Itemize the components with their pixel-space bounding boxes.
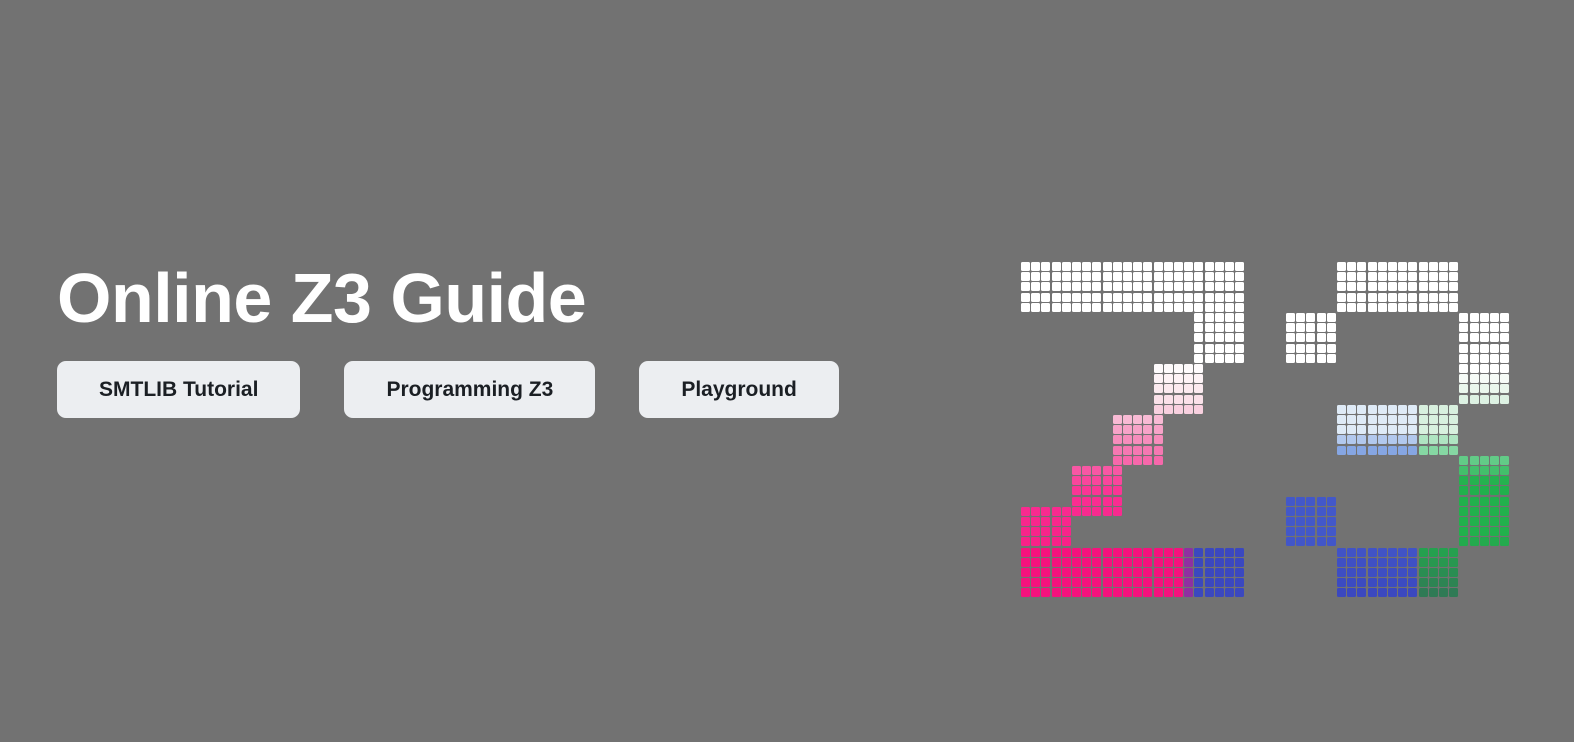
logo-cell xyxy=(1480,456,1489,465)
logo-cell xyxy=(1378,568,1387,577)
logo-cell xyxy=(1459,374,1468,383)
logo-cell xyxy=(1052,303,1061,312)
logo-cell xyxy=(1215,282,1224,291)
logo-cell xyxy=(1388,303,1397,312)
logo-cell xyxy=(1500,364,1509,373)
logo-cell xyxy=(1398,446,1407,455)
logo-cell xyxy=(1470,323,1479,332)
logo-cell xyxy=(1225,272,1234,281)
logo-cell xyxy=(1103,466,1112,475)
logo-cell xyxy=(1113,282,1122,291)
logo-cell xyxy=(1337,415,1346,424)
logo-cell xyxy=(1429,425,1438,434)
logo-cell xyxy=(1419,282,1428,291)
logo-cell xyxy=(1429,405,1438,414)
logo-cell xyxy=(1184,558,1193,567)
logo-cell xyxy=(1388,578,1397,587)
logo-cell xyxy=(1398,435,1407,444)
logo-cell xyxy=(1041,262,1050,271)
logo-cell xyxy=(1439,303,1448,312)
logo-cell xyxy=(1429,435,1438,444)
logo-cell xyxy=(1357,405,1366,414)
logo-cell xyxy=(1235,272,1244,281)
logo-cell xyxy=(1235,323,1244,332)
logo-cell xyxy=(1368,293,1377,302)
logo-cell xyxy=(1500,476,1509,485)
logo-cell xyxy=(1164,282,1173,291)
logo-cell xyxy=(1449,303,1458,312)
logo-cell xyxy=(1225,333,1234,342)
logo-cell xyxy=(1480,333,1489,342)
logo-cell xyxy=(1317,313,1326,322)
logo-cell xyxy=(1184,374,1193,383)
logo-cell xyxy=(1164,364,1173,373)
logo-cell xyxy=(1470,384,1479,393)
logo-cell xyxy=(1439,588,1448,597)
logo-cell xyxy=(1398,548,1407,557)
logo-cell xyxy=(1174,395,1183,404)
logo-cell xyxy=(1164,578,1173,587)
logo-cell xyxy=(1062,517,1071,526)
logo-cell xyxy=(1072,497,1081,506)
logo-cell xyxy=(1470,456,1479,465)
logo-cell xyxy=(1133,262,1142,271)
logo-cell xyxy=(1317,344,1326,353)
logo-cell xyxy=(1154,446,1163,455)
logo-cell xyxy=(1459,537,1468,546)
logo-cell xyxy=(1419,578,1428,587)
logo-cell xyxy=(1174,384,1183,393)
logo-cell xyxy=(1490,395,1499,404)
logo-cell xyxy=(1490,333,1499,342)
smtlib-tutorial-button[interactable]: SMTLIB Tutorial xyxy=(57,361,300,418)
logo-cell xyxy=(1174,374,1183,383)
logo-cell xyxy=(1459,466,1468,475)
logo-cell xyxy=(1072,507,1081,516)
logo-cell xyxy=(1113,456,1122,465)
logo-cell xyxy=(1103,293,1112,302)
logo-cell xyxy=(1072,558,1081,567)
logo-cell xyxy=(1113,272,1122,281)
logo-cell xyxy=(1205,272,1214,281)
logo-cell xyxy=(1194,344,1203,353)
logo-cell xyxy=(1368,548,1377,557)
logo-cell xyxy=(1194,384,1203,393)
logo-cell xyxy=(1317,527,1326,536)
logo-cell xyxy=(1470,466,1479,475)
logo-cell xyxy=(1133,282,1142,291)
hero-section: Online Z3 Guide SMTLIB Tutorial Programm… xyxy=(0,0,1574,742)
logo-cell xyxy=(1184,588,1193,597)
logo-cell xyxy=(1378,415,1387,424)
logo-cell xyxy=(1031,303,1040,312)
logo-cell xyxy=(1123,262,1132,271)
logo-cell xyxy=(1123,282,1132,291)
logo-cell xyxy=(1194,578,1203,587)
logo-cell xyxy=(1041,272,1050,281)
logo-cell xyxy=(1317,517,1326,526)
logo-cell xyxy=(1480,517,1489,526)
logo-cell xyxy=(1154,303,1163,312)
logo-cell xyxy=(1378,558,1387,567)
logo-cell xyxy=(1439,435,1448,444)
logo-cell xyxy=(1072,568,1081,577)
logo-cell xyxy=(1357,303,1366,312)
logo-cell xyxy=(1194,588,1203,597)
logo-cell xyxy=(1408,425,1417,434)
logo-cell xyxy=(1041,293,1050,302)
logo-cell xyxy=(1286,344,1295,353)
logo-cell xyxy=(1388,405,1397,414)
logo-cell xyxy=(1215,293,1224,302)
logo-cell xyxy=(1174,568,1183,577)
logo-cell xyxy=(1306,354,1315,363)
logo-cell xyxy=(1113,486,1122,495)
logo-cell xyxy=(1408,578,1417,587)
logo-cell xyxy=(1123,456,1132,465)
logo-cell xyxy=(1052,262,1061,271)
playground-button[interactable]: Playground xyxy=(639,361,839,418)
logo-cell xyxy=(1062,293,1071,302)
logo-cell xyxy=(1337,425,1346,434)
logo-cell xyxy=(1470,374,1479,383)
logo-cell xyxy=(1092,578,1101,587)
logo-cell xyxy=(1368,405,1377,414)
logo-cell xyxy=(1154,415,1163,424)
logo-cell xyxy=(1286,517,1295,526)
logo-cell xyxy=(1154,395,1163,404)
logo-cell xyxy=(1378,293,1387,302)
logo-cell xyxy=(1429,293,1438,302)
logo-cell xyxy=(1500,497,1509,506)
logo-cell xyxy=(1470,486,1479,495)
logo-cell xyxy=(1449,293,1458,302)
logo-cell xyxy=(1439,578,1448,587)
logo-cell xyxy=(1439,262,1448,271)
logo-cell xyxy=(1388,588,1397,597)
logo-cell xyxy=(1225,548,1234,557)
logo-cell xyxy=(1388,568,1397,577)
logo-cell xyxy=(1215,333,1224,342)
logo-cell xyxy=(1164,272,1173,281)
logo-cell xyxy=(1235,558,1244,567)
logo-cell xyxy=(1480,486,1489,495)
logo-cell xyxy=(1052,568,1061,577)
programming-z3-button[interactable]: Programming Z3 xyxy=(344,361,595,418)
logo-cell xyxy=(1296,333,1305,342)
logo-cell xyxy=(1031,578,1040,587)
logo-cell xyxy=(1082,507,1091,516)
logo-cell xyxy=(1419,548,1428,557)
logo-cell xyxy=(1357,558,1366,567)
logo-cell xyxy=(1031,558,1040,567)
logo-cell xyxy=(1174,262,1183,271)
logo-cell xyxy=(1062,578,1071,587)
logo-cell xyxy=(1052,517,1061,526)
logo-cell xyxy=(1398,303,1407,312)
logo-cell xyxy=(1041,517,1050,526)
logo-cell xyxy=(1205,568,1214,577)
logo-cell xyxy=(1133,568,1142,577)
logo-cell xyxy=(1103,548,1112,557)
logo-cell xyxy=(1133,303,1142,312)
logo-cell xyxy=(1194,405,1203,414)
logo-cell xyxy=(1184,405,1193,414)
logo-cell xyxy=(1031,527,1040,536)
logo-cell xyxy=(1368,435,1377,444)
logo-cell xyxy=(1347,303,1356,312)
logo-cell xyxy=(1194,395,1203,404)
logo-cell xyxy=(1062,507,1071,516)
logo-cell xyxy=(1021,548,1030,557)
logo-cell xyxy=(1459,323,1468,332)
logo-cell xyxy=(1480,497,1489,506)
logo-cell xyxy=(1500,466,1509,475)
logo-cell xyxy=(1092,588,1101,597)
logo-cell xyxy=(1490,466,1499,475)
logo-cell xyxy=(1174,558,1183,567)
logo-cell xyxy=(1286,497,1295,506)
logo-cell xyxy=(1021,303,1030,312)
logo-cell xyxy=(1082,262,1091,271)
logo-cell xyxy=(1398,293,1407,302)
logo-cell xyxy=(1092,262,1101,271)
logo-cell xyxy=(1368,446,1377,455)
logo-cell xyxy=(1337,272,1346,281)
logo-cell xyxy=(1296,354,1305,363)
logo-cell xyxy=(1194,323,1203,332)
logo-cell xyxy=(1113,568,1122,577)
logo-cell xyxy=(1215,262,1224,271)
cta-button-row: SMTLIB Tutorial Programming Z3 Playgroun… xyxy=(57,361,977,418)
logo-cell xyxy=(1408,558,1417,567)
logo-cell xyxy=(1398,262,1407,271)
logo-cell xyxy=(1306,517,1315,526)
logo-cell xyxy=(1143,568,1152,577)
logo-cell xyxy=(1408,282,1417,291)
logo-cell xyxy=(1296,537,1305,546)
logo-cell xyxy=(1500,395,1509,404)
logo-cell xyxy=(1123,425,1132,434)
logo-cell xyxy=(1164,395,1173,404)
logo-cell xyxy=(1470,537,1479,546)
logo-cell xyxy=(1286,537,1295,546)
logo-cell xyxy=(1490,384,1499,393)
logo-cell xyxy=(1368,425,1377,434)
logo-cell xyxy=(1184,384,1193,393)
logo-cell xyxy=(1500,507,1509,516)
logo-cell xyxy=(1357,548,1366,557)
logo-cell xyxy=(1133,272,1142,281)
logo-cell xyxy=(1164,405,1173,414)
logo-cell xyxy=(1419,435,1428,444)
logo-cell xyxy=(1174,282,1183,291)
logo-cell xyxy=(1154,364,1163,373)
logo-cell xyxy=(1429,282,1438,291)
logo-cell xyxy=(1103,558,1112,567)
logo-cell xyxy=(1215,558,1224,567)
logo-cell xyxy=(1194,303,1203,312)
logo-cell xyxy=(1154,262,1163,271)
logo-cell xyxy=(1378,303,1387,312)
logo-cell xyxy=(1143,262,1152,271)
logo-cell xyxy=(1123,578,1132,587)
logo-cell xyxy=(1103,282,1112,291)
logo-cell xyxy=(1490,313,1499,322)
logo-cell xyxy=(1378,272,1387,281)
logo-cell xyxy=(1470,364,1479,373)
logo-cell xyxy=(1429,588,1438,597)
logo-cell xyxy=(1357,272,1366,281)
logo-cell xyxy=(1041,558,1050,567)
logo-cell xyxy=(1113,497,1122,506)
logo-cell xyxy=(1092,282,1101,291)
logo-cell xyxy=(1154,425,1163,434)
logo-cell xyxy=(1082,486,1091,495)
logo-cell xyxy=(1235,293,1244,302)
logo-cell xyxy=(1408,446,1417,455)
logo-cell xyxy=(1347,282,1356,291)
logo-cell xyxy=(1194,548,1203,557)
logo-cell xyxy=(1480,395,1489,404)
logo-cell xyxy=(1123,303,1132,312)
logo-cell xyxy=(1470,497,1479,506)
logo-cell xyxy=(1082,466,1091,475)
logo-cell xyxy=(1459,527,1468,536)
logo-cell xyxy=(1327,517,1336,526)
logo-cell xyxy=(1072,466,1081,475)
logo-cell xyxy=(1143,446,1152,455)
logo-cell xyxy=(1113,425,1122,434)
logo-cell xyxy=(1357,435,1366,444)
logo-cell xyxy=(1490,374,1499,383)
logo-cell xyxy=(1031,282,1040,291)
logo-cell xyxy=(1225,588,1234,597)
logo-cell xyxy=(1031,262,1040,271)
logo-cell xyxy=(1123,293,1132,302)
logo-cell xyxy=(1103,272,1112,281)
logo-cell xyxy=(1052,537,1061,546)
logo-cell xyxy=(1490,323,1499,332)
logo-cell xyxy=(1459,354,1468,363)
logo-cell xyxy=(1439,282,1448,291)
logo-cell xyxy=(1133,446,1142,455)
logo-cell xyxy=(1062,558,1071,567)
logo-cell xyxy=(1296,313,1305,322)
logo-cell xyxy=(1419,415,1428,424)
logo-cell xyxy=(1194,374,1203,383)
logo-cell xyxy=(1174,272,1183,281)
logo-cell xyxy=(1429,272,1438,281)
logo-cell xyxy=(1337,405,1346,414)
logo-cell xyxy=(1082,272,1091,281)
logo-cell xyxy=(1327,497,1336,506)
logo-cell xyxy=(1123,588,1132,597)
logo-cell xyxy=(1419,588,1428,597)
logo-cell xyxy=(1062,548,1071,557)
logo-cell xyxy=(1174,588,1183,597)
logo-cell xyxy=(1480,344,1489,353)
logo-cell xyxy=(1123,568,1132,577)
logo-cell xyxy=(1490,497,1499,506)
logo-cell xyxy=(1500,537,1509,546)
logo-cell xyxy=(1143,588,1152,597)
logo-cell xyxy=(1317,333,1326,342)
logo-cell xyxy=(1337,588,1346,597)
logo-cell xyxy=(1154,435,1163,444)
logo-cell xyxy=(1092,558,1101,567)
logo-cell xyxy=(1082,303,1091,312)
logo-cell xyxy=(1500,333,1509,342)
logo-cell xyxy=(1082,476,1091,485)
logo-cell xyxy=(1480,313,1489,322)
logo-cell xyxy=(1133,558,1142,567)
logo-cell xyxy=(1470,527,1479,536)
logo-cell xyxy=(1082,282,1091,291)
logo-cell xyxy=(1296,344,1305,353)
logo-cell xyxy=(1194,558,1203,567)
logo-cell xyxy=(1154,272,1163,281)
logo-cell xyxy=(1133,456,1142,465)
logo-cell xyxy=(1388,425,1397,434)
logo-cell xyxy=(1113,262,1122,271)
logo-cell xyxy=(1408,272,1417,281)
logo-cell xyxy=(1164,374,1173,383)
logo-cell xyxy=(1143,282,1152,291)
logo-cell xyxy=(1113,588,1122,597)
logo-cell xyxy=(1021,527,1030,536)
logo-cell xyxy=(1347,588,1356,597)
logo-cell xyxy=(1225,568,1234,577)
logo-cell xyxy=(1143,272,1152,281)
logo-cell xyxy=(1470,344,1479,353)
logo-cell xyxy=(1092,507,1101,516)
logo-cell xyxy=(1082,588,1091,597)
logo-cell xyxy=(1296,323,1305,332)
logo-cell xyxy=(1041,282,1050,291)
logo-cell xyxy=(1327,344,1336,353)
logo-cell xyxy=(1184,262,1193,271)
logo-cell xyxy=(1480,476,1489,485)
logo-cell xyxy=(1306,507,1315,516)
logo-cell xyxy=(1154,548,1163,557)
logo-cell xyxy=(1143,456,1152,465)
logo-cell xyxy=(1133,293,1142,302)
logo-cell xyxy=(1062,272,1071,281)
logo-cell xyxy=(1419,558,1428,567)
logo-cell xyxy=(1072,303,1081,312)
logo-cell xyxy=(1357,588,1366,597)
logo-cell xyxy=(1408,435,1417,444)
logo-cell xyxy=(1337,303,1346,312)
logo-cell xyxy=(1113,578,1122,587)
logo-cell xyxy=(1449,415,1458,424)
logo-cell xyxy=(1439,415,1448,424)
logo-cell xyxy=(1286,313,1295,322)
logo-cell xyxy=(1092,303,1101,312)
logo-cell xyxy=(1490,456,1499,465)
logo-cell xyxy=(1041,527,1050,536)
logo-cell xyxy=(1154,405,1163,414)
logo-cell xyxy=(1154,293,1163,302)
logo-cell xyxy=(1215,303,1224,312)
logo-cell xyxy=(1500,517,1509,526)
logo-cell xyxy=(1459,333,1468,342)
logo-cell xyxy=(1470,354,1479,363)
logo-cell xyxy=(1031,568,1040,577)
logo-cell xyxy=(1337,293,1346,302)
logo-cell xyxy=(1347,405,1356,414)
